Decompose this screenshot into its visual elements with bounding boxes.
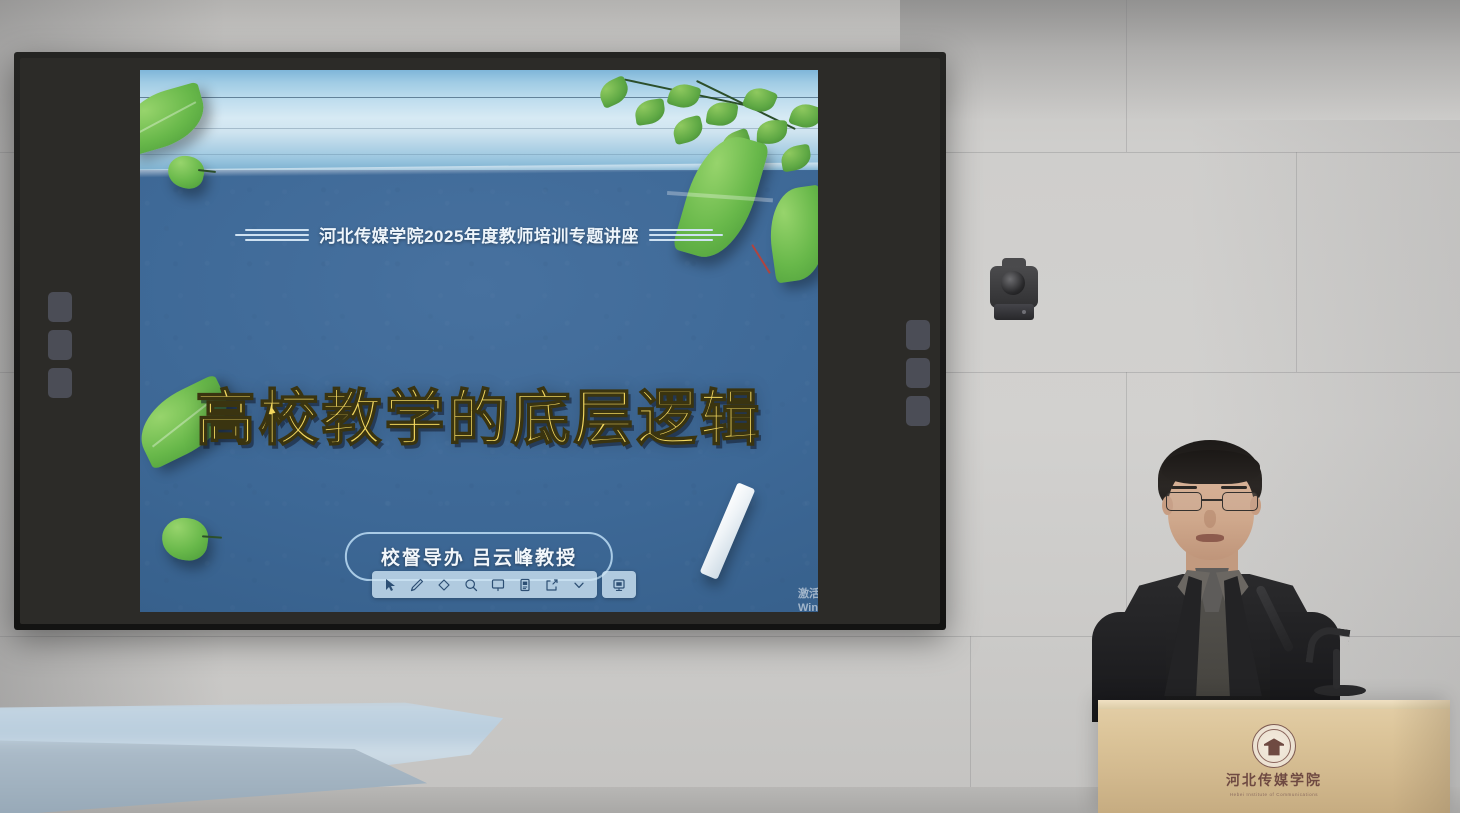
decorative-rule-right xyxy=(649,229,723,241)
cursor-icon[interactable] xyxy=(377,574,403,595)
spotlight-icon[interactable] xyxy=(485,574,511,595)
presentation-slide[interactable]: 河北传媒学院2025年度教师培训专题讲座 高校教学的底层逻辑 校督导办 吕云峰教… xyxy=(140,70,818,612)
ptz-camera-icon xyxy=(988,258,1040,322)
slide-title: 高校教学的底层逻辑 xyxy=(140,370,818,457)
institution-name-en: Hebei Institute of Communications xyxy=(1230,792,1318,797)
bezel-button-5[interactable] xyxy=(906,358,930,388)
pen-icon[interactable] xyxy=(404,574,430,595)
microphone-base xyxy=(1314,685,1366,696)
wall-panel-seam xyxy=(1296,152,1297,372)
presentation-toolbar[interactable] xyxy=(372,571,636,598)
institution-seal-icon xyxy=(1252,724,1296,768)
presenter-view-icon[interactable] xyxy=(606,574,632,595)
eraser-icon[interactable] xyxy=(431,574,457,595)
institution-name-cn: 河北传媒学院 xyxy=(1226,770,1322,790)
decorative-rule-left xyxy=(235,229,309,241)
lectern: 河北传媒学院 Hebei Institute of Communications xyxy=(1098,700,1450,813)
microphone-curve xyxy=(1306,624,1351,667)
chevron-down-icon[interactable] xyxy=(566,574,592,595)
lectern-side-shade xyxy=(1392,700,1450,813)
camera-base xyxy=(994,304,1034,320)
bezel-button-3[interactable] xyxy=(48,368,72,398)
export-icon[interactable] xyxy=(539,574,565,595)
toolbar-presenter-group[interactable] xyxy=(602,571,636,598)
presenter-hair-front xyxy=(1162,450,1260,484)
toolbar-main-group[interactable] xyxy=(372,571,597,598)
presenter-brow-left xyxy=(1171,486,1197,489)
institution-logo: 河北传媒学院 Hebei Institute of Communications xyxy=(1226,724,1322,797)
wall-shadow-top xyxy=(900,0,1460,120)
presenter-nose xyxy=(1204,510,1216,528)
bezel-button-1[interactable] xyxy=(48,292,72,322)
bezel-button-group-right[interactable] xyxy=(906,320,930,426)
bezel-button-6[interactable] xyxy=(906,396,930,426)
slide-subtitle-row: 河北传媒学院2025年度教师培训专题讲座 xyxy=(140,222,818,247)
bezel-button-4[interactable] xyxy=(906,320,930,350)
bezel-button-2[interactable] xyxy=(48,330,72,360)
magnifier-icon[interactable] xyxy=(458,574,484,595)
presenter-brow-right xyxy=(1221,486,1247,489)
slide-subtitle: 河北传媒学院2025年度教师培训专题讲座 xyxy=(319,222,639,247)
bezel-button-group-left[interactable] xyxy=(48,292,72,398)
interactive-smartboard[interactable]: 河北传媒学院2025年度教师培训专题讲座 高校教学的底层逻辑 校督导办 吕云峰教… xyxy=(14,52,946,630)
presenter-mouth xyxy=(1196,534,1224,542)
note-icon[interactable] xyxy=(512,574,538,595)
camera-led-icon xyxy=(1022,310,1026,314)
camera-lens-icon xyxy=(1001,271,1025,295)
gooseneck-microphone-icon xyxy=(1280,575,1390,710)
lecture-hall-scene: 河北传媒学院2025年度教师培训专题讲座 高校教学的底层逻辑 校督导办 吕云峰教… xyxy=(0,0,1460,813)
wall-panel-seam xyxy=(1126,0,1127,152)
eyeglasses-icon xyxy=(1164,492,1260,512)
